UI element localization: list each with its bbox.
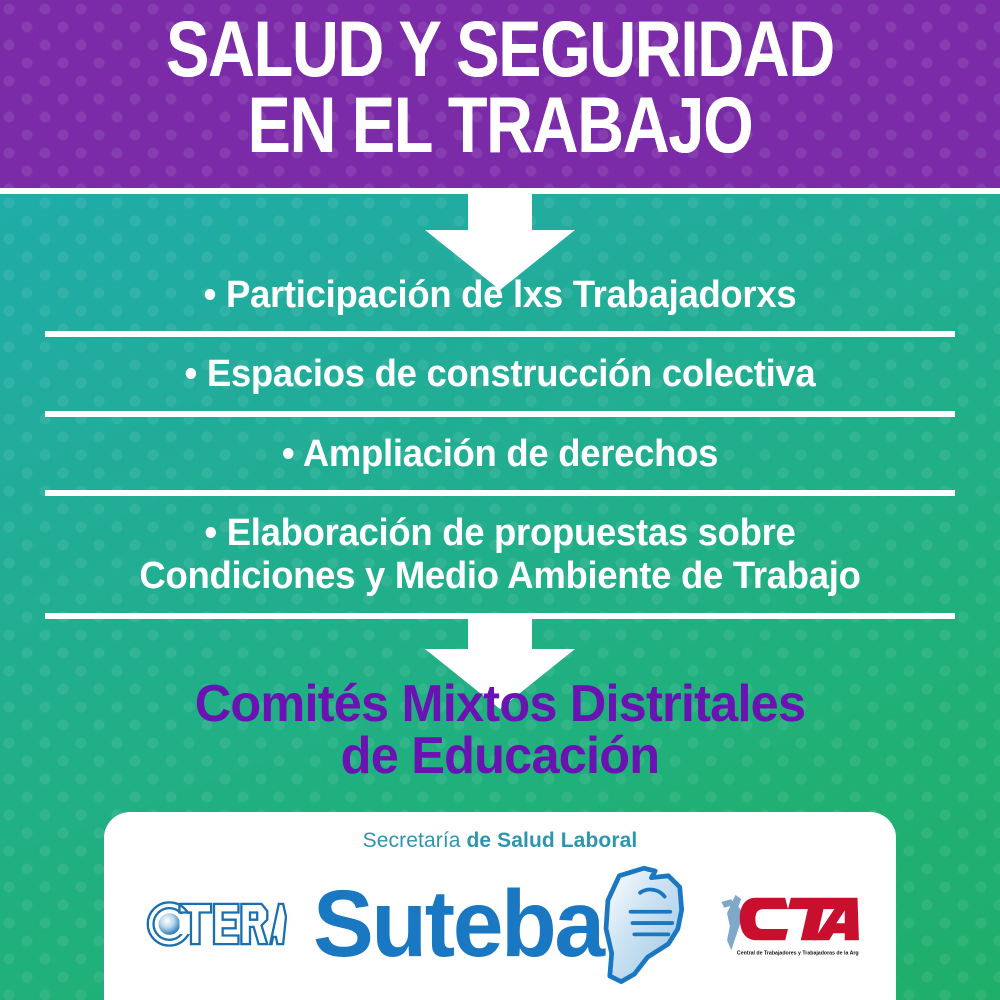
arrow-shaft [468, 194, 532, 230]
spacer [0, 397, 1000, 411]
suteba-logo: Suteba [313, 861, 693, 987]
spacer [0, 599, 1000, 613]
list-item: • Elaboración de propuestas sobre Condic… [63, 512, 937, 599]
cta-tagline: Central de Trabajadores y Trabajadoras d… [737, 950, 859, 956]
cta-logo: Central de Trabajadores y Trabajadoras d… [717, 885, 859, 963]
spacer [0, 337, 1000, 353]
bullet-list: • Participación de lxs Trabajadorxs • Es… [0, 274, 1000, 619]
spacer [0, 317, 1000, 331]
footer-caption-bold: de Salud Laboral [467, 829, 638, 852]
list-item: • Espacios de construcción colectiva [63, 353, 937, 396]
spacer [0, 496, 1000, 512]
poster-canvas: SALUD Y SEGURIDAD EN EL TRABAJO • Partic… [0, 0, 1000, 1000]
footer-caption: Secretaría de Salud Laboral [104, 829, 896, 853]
spacer [0, 417, 1000, 433]
header-band: SALUD Y SEGURIDAD EN EL TRABAJO [0, 0, 1000, 188]
hand-icon [589, 861, 693, 987]
list-item: • Participación de lxs Trabajadorxs [63, 274, 937, 317]
conclusion-heading: Comités Mixtos Distritales de Educación [15, 678, 985, 782]
spacer [0, 476, 1000, 490]
list-item: • Ampliación de derechos [63, 433, 937, 476]
arrow-shaft [468, 618, 532, 649]
logo-strip: Suteba [104, 864, 896, 984]
page-title: SALUD Y SEGURIDAD EN EL TRABAJO [90, 11, 910, 163]
suteba-wordmark: Suteba [313, 877, 603, 972]
footer-card: Secretaría de Salud Laboral [104, 812, 896, 1000]
footer-caption-light: Secretaría [363, 829, 467, 852]
ctera-logo [141, 888, 287, 960]
